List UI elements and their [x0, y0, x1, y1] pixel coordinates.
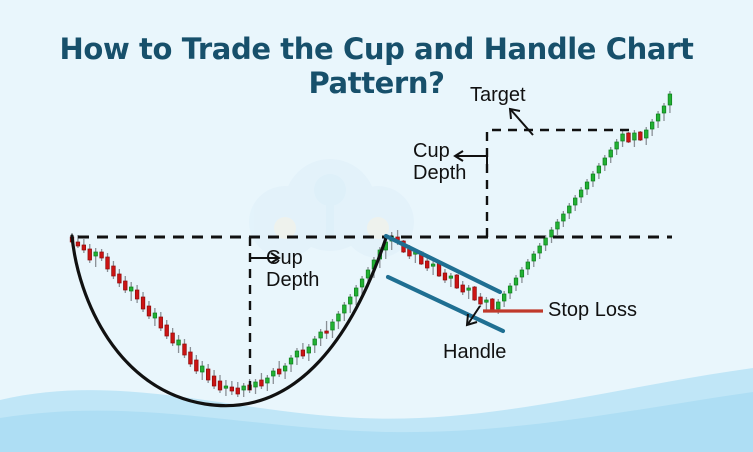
annotation-stop-loss-label: Stop Loss — [548, 299, 637, 321]
annotation-cup-depth-upper-label: Cup Depth — [413, 140, 466, 185]
annotation-handle-label: Handle — [443, 341, 506, 363]
infographic-canvas: How to Trade the Cup and Handle Chart Pa… — [0, 0, 753, 452]
annotation-layer: How to Trade the Cup and Handle Chart Pa… — [0, 0, 753, 452]
annotation-cup-depth-lower-label: Cup Depth — [266, 247, 319, 292]
page-title: How to Trade the Cup and Handle Chart Pa… — [0, 32, 753, 100]
